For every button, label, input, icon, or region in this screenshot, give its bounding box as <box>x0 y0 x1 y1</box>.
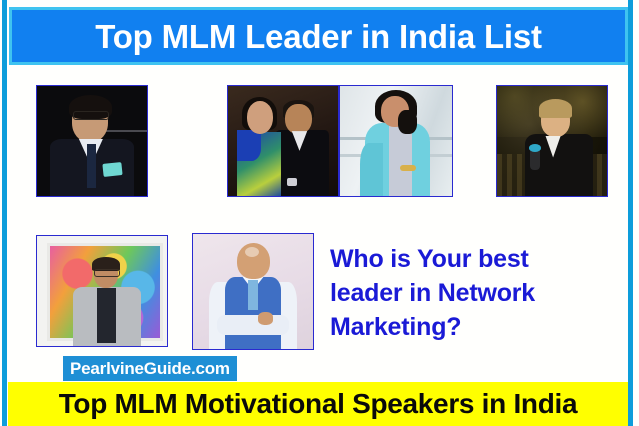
poster-canvas: Top MLM Leader in India List <box>0 0 639 426</box>
question-line-2: leader in Network <box>330 277 620 311</box>
photo-3-arm <box>360 143 382 196</box>
photo-2-wristwatch <box>287 178 297 186</box>
leader-photo-6 <box>193 234 313 349</box>
photo-1-pocket-square <box>102 162 122 177</box>
photo-2-woman-blouse <box>237 130 261 161</box>
bottom-banner-title: Top MLM Motivational Speakers in India <box>59 390 578 418</box>
photo-3-saree-drape <box>389 126 411 196</box>
photo-2-man-face <box>285 104 311 135</box>
leader-photo-1 <box>37 86 147 196</box>
leader-photo-2 <box>228 86 338 196</box>
photo-2-woman-face <box>247 101 273 134</box>
top-banner-title: Top MLM Leader in India List <box>95 20 542 53</box>
right-border-rail <box>628 0 633 426</box>
photo-1-glasses <box>73 111 109 120</box>
photo-3-hair-fall <box>398 110 417 134</box>
photo-3-bangle <box>400 165 416 171</box>
leader-photo-5 <box>37 236 167 346</box>
photo-6-head-highlight <box>245 247 259 257</box>
top-title-banner: Top MLM Leader in India List <box>12 10 625 62</box>
question-headline: Who is Your best leader in Network Marke… <box>330 243 620 344</box>
leader-photo-4 <box>497 86 607 196</box>
left-border-rail <box>2 0 7 426</box>
photo-6-hand <box>258 312 274 325</box>
site-watermark: PearlvineGuide.com <box>63 356 237 381</box>
photo-5-glasses <box>94 269 119 277</box>
bottom-title-banner: Top MLM Motivational Speakers in India <box>8 382 628 426</box>
photo-6-necktie <box>248 280 258 310</box>
photo-6-crossed-arms <box>217 315 289 336</box>
question-line-3: Marketing? <box>330 311 620 345</box>
photo-1-necktie <box>87 144 96 188</box>
photo-5-tshirt <box>97 288 117 343</box>
photo-4-microphone-head <box>529 144 541 152</box>
leader-photo-3 <box>340 86 452 196</box>
photo-4-hair <box>539 99 572 118</box>
question-line-1: Who is Your best <box>330 243 620 277</box>
